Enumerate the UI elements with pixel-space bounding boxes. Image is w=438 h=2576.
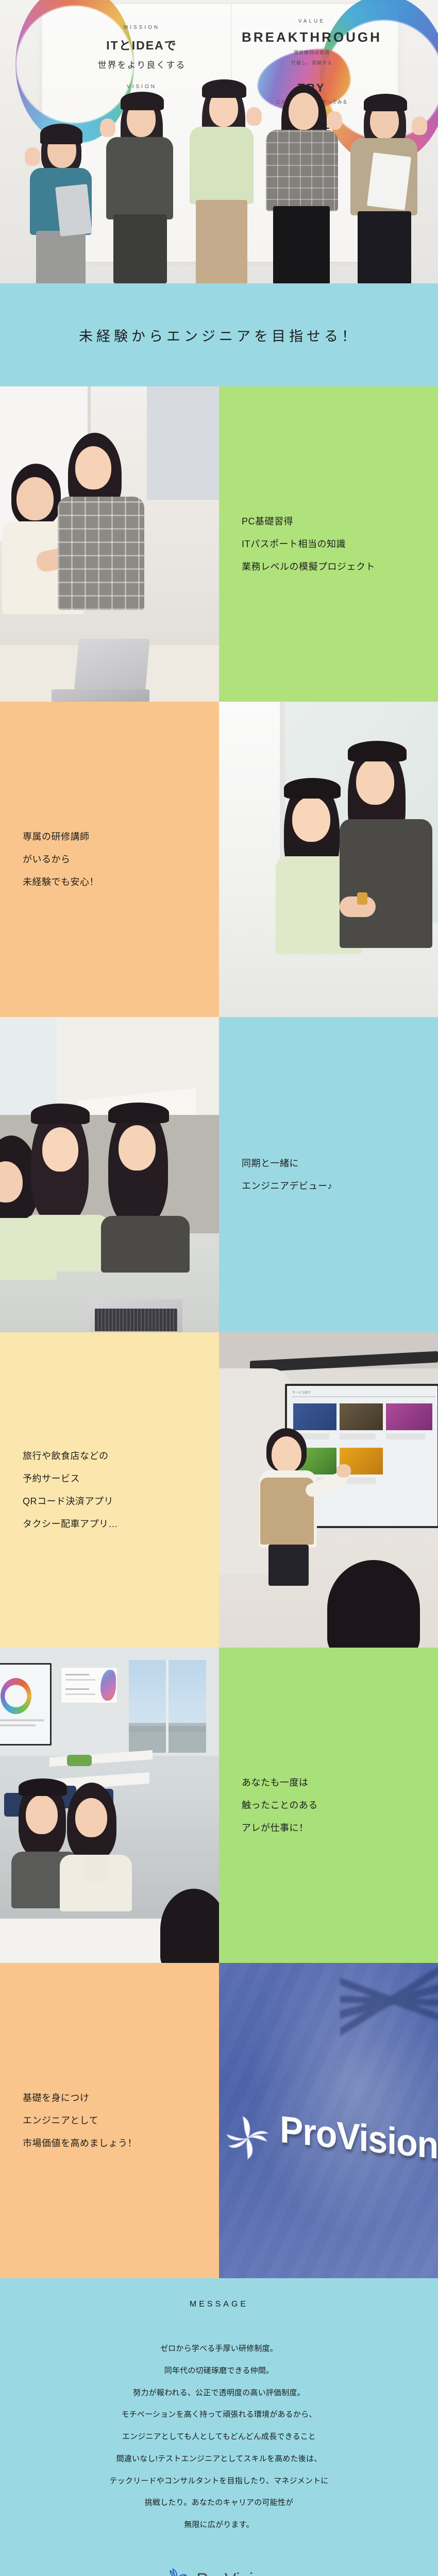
message-line-3: 努力が報われる、公正で透明度の高い評価制度。 — [0, 2382, 438, 2404]
value-subtitle-1: 現状維持は衰退 — [237, 49, 386, 56]
provision-logo: ProVision — [0, 2566, 438, 2576]
message-line-5: エンジニアとしても人としてもどんどん成長できること — [0, 2426, 438, 2448]
panel-familiar-apps: あなたも一度は 触ったことのある アレが仕事に！ — [219, 1648, 438, 1963]
photo-service-presentation: サービス紹介 — [219, 1332, 438, 1648]
section-market-value: 基礎を身につけ エンジニアとして 市場価値を高めましょう！ — [0, 1963, 438, 2278]
familiar-line-1: あなたも一度は — [242, 1771, 415, 1794]
section-peer-debut: 同期と一緒に エンジニアデビュー♪ — [0, 1017, 438, 1332]
mission-title: ITとIDEAで — [77, 36, 206, 53]
value-label: VALUE — [237, 19, 386, 24]
provision-wordmark: ProVision — [196, 2570, 273, 2576]
team-member-5 — [342, 88, 427, 283]
market-line-2: エンジニアとして — [23, 2109, 196, 2132]
team-member-1 — [21, 113, 98, 283]
recruitment-flyer: MISSION ITとIDEAで 世界をより良くする VISION 思の実現 り… — [0, 0, 438, 2481]
message-section: MESSAGE ゼロから学べる手厚い研修制度。 同年代の切磋琢磨できる仲間。 努… — [0, 2278, 438, 2576]
instructor-line-2: がいるから — [23, 848, 196, 871]
project-line-4: タクシー配車アプリ… — [23, 1513, 196, 1535]
training-line-1: PC基礎習得 — [242, 510, 415, 533]
project-line-3: QRコード決済アプリ — [23, 1490, 196, 1513]
panel-peer-debut: 同期と一緒に エンジニアデビュー♪ — [219, 1017, 438, 1332]
panel-project-examples: 旅行や飲食店などの 予約サービス QRコード決済アプリ タクシー配車アプリ… — [0, 1332, 219, 1648]
message-line-9: 無限に広がります。 — [0, 2514, 438, 2536]
section-dedicated-instructor: 専属の研修講師 がいるから 未経験でも安心！ — [0, 702, 438, 1017]
message-line-4: モチベーションを高く持って頑張れる環境があるから、 — [0, 2404, 438, 2426]
photo-peers-working — [0, 1017, 219, 1332]
training-line-3: 業務レベルの模擬プロジェクト — [242, 555, 415, 578]
team-member-4 — [258, 82, 345, 283]
team-member-2 — [98, 88, 180, 283]
instructor-line-1: 専属の研修講師 — [23, 825, 196, 848]
section-familiar-apps: あなたも一度は 触ったことのある アレが仕事に！ — [0, 1648, 438, 1963]
message-line-2: 同年代の切磋琢磨できる仲間。 — [0, 2360, 438, 2382]
training-line-2: ITパスポート相当の知識 — [242, 533, 415, 555]
section-training-curriculum: PC基礎習得 ITパスポート相当の知識 業務レベルの模擬プロジェクト — [0, 386, 438, 702]
project-line-2: 予約サービス — [23, 1467, 196, 1490]
project-line-1: 旅行や飲食店などの — [23, 1445, 196, 1467]
hero-photo: MISSION ITとIDEAで 世界をより良くする VISION 思の実現 り… — [0, 0, 438, 283]
peer-line-1: 同期と一緒に — [242, 1152, 415, 1175]
panel-dedicated-instructor: 専属の研修講師 がいるから 未経験でも安心！ — [0, 702, 219, 1017]
familiar-line-2: 触ったことのある — [242, 1794, 415, 1817]
photo-seminar-room — [0, 1648, 219, 1963]
provision-pinwheel-icon — [164, 2566, 189, 2576]
panel-market-value: 基礎を身につけ エンジニアとして 市場価値を高めましょう！ — [0, 1963, 219, 2278]
familiar-line-3: アレが仕事に！ — [242, 1817, 415, 1839]
message-line-1: ゼロから学べる手厚い研修制度。 — [0, 2338, 438, 2360]
mission-label: MISSION — [77, 25, 206, 30]
peer-line-2: エンジニアデビュー♪ — [242, 1175, 415, 1197]
provision-sign-mark-icon — [223, 2111, 273, 2165]
section-project-examples: 旅行や飲食店などの 予約サービス QRコード決済アプリ タクシー配車アプリ… サ… — [0, 1332, 438, 1648]
instructor-line-3: 未経験でも安心！ — [23, 871, 196, 893]
market-line-3: 市場価値を高めましょう！ — [23, 2132, 196, 2155]
value-title: BREAKTHROUGH — [237, 29, 386, 45]
mission-subtitle: 世界をより良くする — [77, 58, 206, 71]
message-line-6: 間違いなし!テストエンジニアとしてスキルを高めた後は、 — [0, 2448, 438, 2470]
headline-text: 未経験からエンジニアを目指せる！ — [79, 325, 359, 345]
value-subtitle-2: 打破し、突破する — [237, 59, 386, 66]
message-heading: MESSAGE — [0, 2300, 438, 2309]
panel-training-curriculum: PC基礎習得 ITパスポート相当の知識 業務レベルの模擬プロジェクト — [219, 386, 438, 702]
market-line-1: 基礎を身につけ — [23, 2087, 196, 2109]
message-line-8: 挑戦したり。あなたのキャリアの可能性が — [0, 2492, 438, 2514]
team-member-3 — [179, 77, 262, 283]
headline-banner: 未経験からエンジニアを目指せる！ — [0, 283, 438, 386]
photo-instructor-trainee — [219, 702, 438, 1017]
message-line-7: テックリードやコンサルタントを目指したり、マネジメントに — [0, 2470, 438, 2493]
photo-training-room — [0, 386, 219, 702]
photo-provision-signage: ProVision — [219, 1963, 438, 2278]
